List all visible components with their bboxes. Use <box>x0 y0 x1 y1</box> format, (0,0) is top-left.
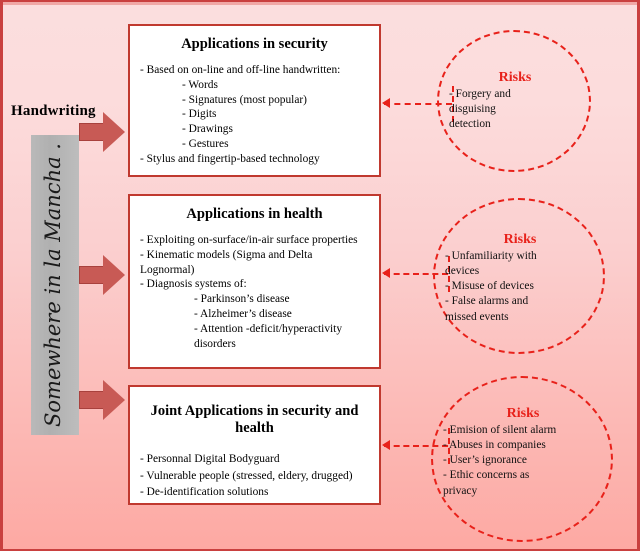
diagram-canvas: Handwriting Somewhere in la Mancha . . .… <box>0 0 640 551</box>
risk-item: - False alarms and <box>445 294 595 309</box>
joint-applications-box: Joint Applications in security and healt… <box>128 385 381 505</box>
risks-list: - Forgery and disguising detection <box>449 87 581 132</box>
applications-in-security-box: Applications in security - Based on on-l… <box>128 24 381 177</box>
risk-item: - Emision of silent alarm <box>443 423 603 438</box>
risks-list: - Emision of silent alarm - Abuses in co… <box>443 423 603 499</box>
box-line: - Drawings <box>140 122 369 137</box>
connector-health-arrowhead <box>382 268 390 278</box>
risk-item: - Abuses in companies <box>443 438 603 453</box>
risks-circle-security: Risks - Forgery and disguising detection <box>437 30 591 172</box>
risks-title: Risks <box>445 232 595 248</box>
box-line: - Gestures <box>140 137 369 152</box>
box-line: - Alzheimer’s disease <box>140 307 369 322</box>
risk-item: disguising <box>449 102 581 117</box>
arrow-to-security-box <box>79 112 125 152</box>
box-title: Joint Applications in security and healt… <box>140 403 369 437</box>
box-title: Applications in health <box>140 206 369 223</box>
box-line: - Based on on-line and off-line handwrit… <box>140 63 369 78</box>
arrow-shaft <box>79 391 105 409</box>
risk-item: missed events <box>445 310 595 325</box>
box-body: - Personnal Digital Bodyguard - Vulnerab… <box>140 451 369 501</box>
risk-item: - Forgery and <box>449 87 581 102</box>
box-line: - Vulnerable people (stressed, eldery, d… <box>140 468 369 485</box>
risk-item: - Misuse of devices <box>445 279 595 294</box>
box-line: - Personnal Digital Bodyguard <box>140 451 369 468</box>
box-line: disorders <box>140 337 369 352</box>
risk-item: - Unfamiliarity with <box>445 249 595 264</box>
risk-item: privacy <box>443 484 603 499</box>
applications-in-health-box: Applications in health - Exploiting on-s… <box>128 194 381 369</box>
risks-circle-health: Risks - Unfamiliarity with devices - Mis… <box>433 198 605 354</box>
box-line: - De-identification solutions <box>140 484 369 501</box>
handwriting-sample-text: Somewhere in la Mancha . . . <box>41 135 65 427</box>
arrow-shaft <box>79 123 105 141</box>
risks-list: - Unfamiliarity with devices - Misuse of… <box>445 249 595 325</box>
box-line: - Kinematic models (Sigma and Delta <box>140 248 369 263</box>
box-line: - Stylus and fingertip-based technology <box>140 152 369 167</box>
risks-title: Risks <box>449 70 581 86</box>
risk-item: - User’s ignorance <box>443 453 603 468</box>
box-line: - Diagnosis systems of: <box>140 277 369 292</box>
risk-item: detection <box>449 117 581 132</box>
arrow-shaft <box>79 266 105 284</box>
box-title: Applications in security <box>140 36 369 53</box>
risks-circle-joint: Risks - Emision of silent alarm - Abuses… <box>431 376 613 542</box>
box-line: - Parkinson’s disease <box>140 292 369 307</box>
box-body: - Exploiting on-surface/in-air surface p… <box>140 233 369 352</box>
box-line: - Digits <box>140 107 369 122</box>
connector-joint-arrowhead <box>382 440 390 450</box>
connector-security-arrowhead <box>382 98 390 108</box>
arrow-head <box>103 380 125 420</box>
handwriting-sample-strip: Somewhere in la Mancha . . . <box>31 135 79 435</box>
box-line: - Exploiting on-surface/in-air surface p… <box>140 233 369 248</box>
arrow-head <box>103 255 125 295</box>
box-body: - Based on on-line and off-line handwrit… <box>140 63 369 167</box>
risks-title: Risks <box>443 406 603 422</box>
box-line: - Attention -deficit/hyperactivity <box>140 322 369 337</box>
box-line: - Words <box>140 78 369 93</box>
arrow-head <box>103 112 125 152</box>
arrow-to-joint-box <box>79 380 125 420</box>
risk-item: - Ethic concerns as <box>443 468 603 483</box>
box-line: Lognormal) <box>140 263 369 278</box>
risk-item: devices <box>445 264 595 279</box>
arrow-to-health-box <box>79 255 125 295</box>
box-line: - Signatures (most popular) <box>140 93 369 108</box>
